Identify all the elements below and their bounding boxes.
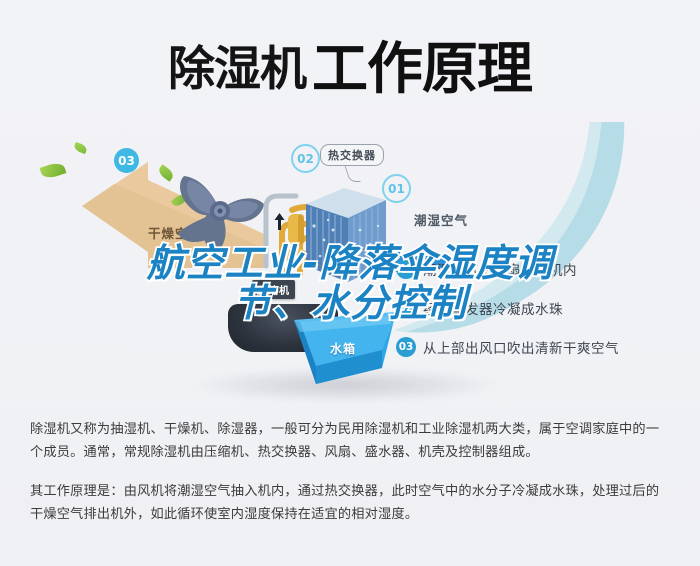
legend-badge-01: 01	[396, 259, 416, 279]
body-paragraph-1: 除湿机又称为抽湿机、干燥机、除湿器，一般可分为民用除湿机和工业除湿机两大类，属于…	[30, 418, 670, 464]
legend-badge-02: 02	[396, 298, 416, 318]
diagram-badge-01: 01	[382, 174, 411, 203]
diagram-badge-03: 03	[114, 148, 139, 173]
leaf-icon	[73, 142, 88, 154]
legend-list: 01 潮湿空气由风扇抽入机内 02 经过蒸发器冷凝成水珠 03 从上部出风口吹出…	[396, 258, 696, 375]
infographic-page: 除湿机工作原理 干燥空气	[0, 0, 700, 566]
leaf-icon	[40, 161, 67, 181]
list-item: 03 从上部出风口吹出清新干爽空气	[396, 336, 696, 358]
list-item: 01 潮湿空气由风扇抽入机内	[396, 258, 696, 280]
legend-text-01: 潮湿空气由风扇抽入机内	[423, 259, 577, 279]
legend-text-03: 从上部出风口吹出清新干爽空气	[423, 337, 619, 357]
list-item: 02 经过蒸发器冷凝成水珠	[396, 297, 696, 319]
page-title: 除湿机工作原理	[0, 24, 700, 105]
diagram-badge-02: 02	[291, 144, 320, 173]
legend-text-02: 经过蒸发器冷凝成水珠	[423, 298, 563, 318]
moist-air-label: 潮湿空气	[414, 210, 468, 229]
water-tank-label: 水箱	[330, 340, 356, 357]
body-paragraph-2: 其工作原理是：由风机将潮湿空气抽入机内，通过热交换器，此时空气中的水分子冷凝成水…	[30, 480, 670, 526]
compressor-label: 压缩机	[252, 280, 295, 299]
page-title-part1: 除湿机	[168, 42, 306, 97]
page-title-part2: 工作原理	[312, 37, 532, 102]
legend-badge-03: 03	[396, 337, 416, 357]
heat-exchanger-callout: 热交换器	[320, 144, 384, 166]
body-copy: 除湿机又称为抽湿机、干燥机、除湿器，一般可分为民用除湿机和工业除湿机两大类，属于…	[30, 418, 670, 542]
